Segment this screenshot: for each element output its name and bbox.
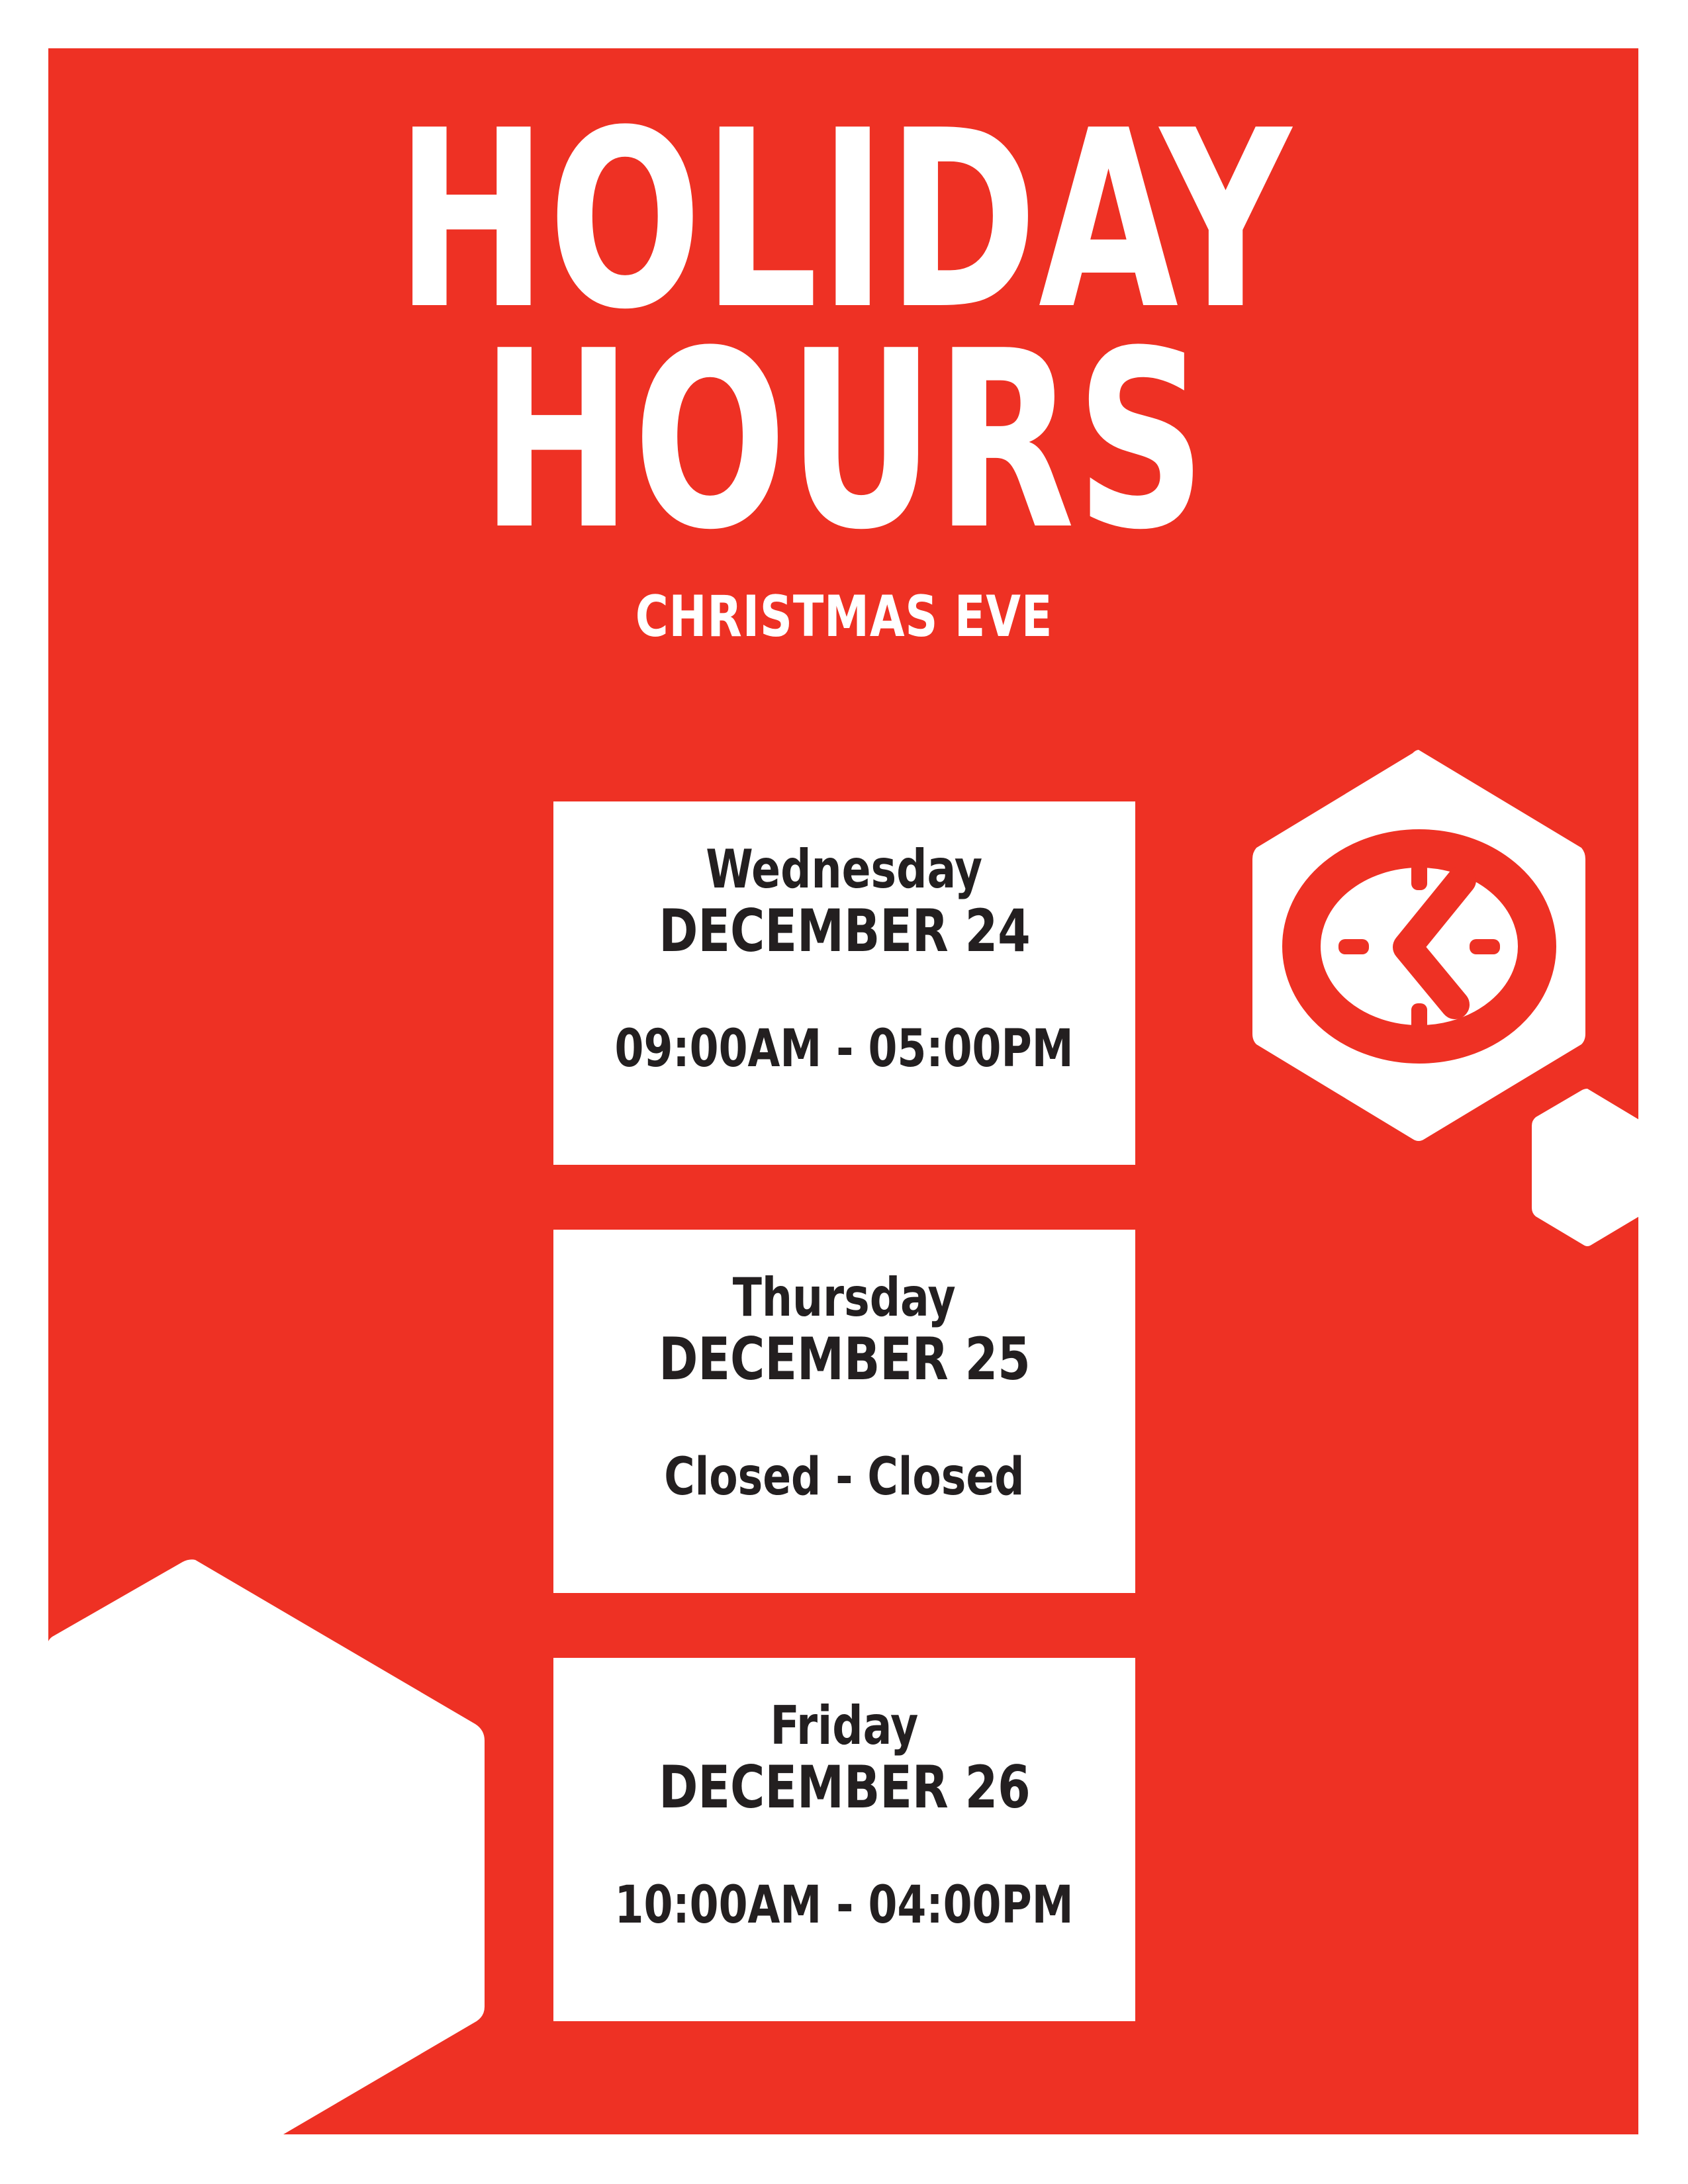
schedule-card-date: DECEMBER 26 — [659, 1753, 1031, 1822]
schedule-card-day: Thursday — [733, 1271, 956, 1325]
schedule-card-hours: Closed - Closed — [664, 1451, 1024, 1503]
poster-header: HOLIDAY HOURS CHRISTMAS EVE — [0, 0, 1688, 650]
schedule-card-hours: 10:00AM - 04:00PM — [615, 1880, 1074, 1931]
schedule-card: Wednesday DECEMBER 24 09:00AM - 05:00PM — [553, 801, 1135, 1165]
schedule-card-list: Wednesday DECEMBER 24 09:00AM - 05:00PM … — [553, 801, 1135, 2086]
page-title: HOLIDAY HOURS — [152, 0, 1536, 552]
schedule-card-day: Friday — [771, 1699, 919, 1753]
schedule-card: Thursday DECEMBER 25 Closed - Closed — [553, 1230, 1135, 1593]
title-line-2: HOURS — [152, 332, 1536, 552]
schedule-card: Friday DECEMBER 26 10:00AM - 04:00PM — [553, 1658, 1135, 2021]
holiday-hours-poster: HOLIDAY HOURS CHRISTMAS EVE Wednesday DE… — [0, 0, 1688, 2184]
schedule-card-hours: 09:00AM - 05:00PM — [615, 1023, 1074, 1075]
page-subtitle: CHRISTMAS EVE — [101, 584, 1587, 650]
schedule-card-date: DECEMBER 24 — [659, 897, 1031, 966]
schedule-card-day: Wednesday — [706, 842, 983, 897]
schedule-card-date: DECEMBER 25 — [659, 1325, 1031, 1394]
